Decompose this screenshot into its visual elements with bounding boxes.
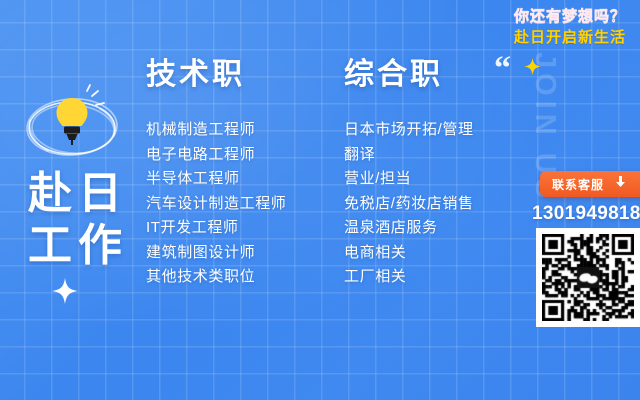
contact-service-button[interactable]: 联系客服 [540,171,640,197]
job-list-tech: 机械制造工程师 电子电路工程师 半导体工程师 汽车设计制造工程师 IT开发工程师… [146,118,286,290]
phone-number: 13019498186 [532,203,640,225]
list-item: 温泉酒店服务 [344,216,474,241]
hand-drawn-circle-icon [18,82,126,168]
list-item: 电子电路工程师 [146,143,286,168]
poster-canvas: JOIN US [0,0,640,400]
title-line-2: 工作 [22,220,134,272]
slogan-block: 你还有梦想吗？ 赴日开启新生活 [514,6,626,48]
list-item: 电商相关 [344,241,474,266]
list-item: 翻译 [344,143,474,168]
list-item: 营业/担当 [344,167,474,192]
slogan-line-2: 赴日开启新生活 [514,27,626,48]
arrow-down-icon [614,175,627,193]
list-item: IT开发工程师 [146,216,286,241]
column-heading-tech: 技术职 [146,58,286,92]
list-item: 工厂相关 [344,265,474,290]
list-item: 建筑制图设计师 [146,241,286,266]
column-heading-general: 综合职 [344,58,474,92]
lightbulb-icon [57,85,105,145]
column-tech: 技术职 机械制造工程师 电子电路工程师 半导体工程师 汽车设计制造工程师 IT开… [146,58,286,290]
qr-code-icon[interactable] [536,228,640,327]
job-list-general: 日本市场开拓/管理 翻译 营业/担当 免税店/药妆店销售 温泉酒店服务 电商相关… [344,118,474,290]
list-item: 半导体工程师 [146,167,286,192]
sparkle-star-icon-yellow [524,58,541,75]
list-item: 免税店/药妆店销售 [344,192,474,217]
list-item: 机械制造工程师 [146,118,286,143]
slogan-line-1: 你还有梦想吗？ [514,6,626,27]
list-item: 汽车设计制造工程师 [146,192,286,217]
list-item: 日本市场开拓/管理 [344,118,474,143]
contact-service-label: 联系客服 [552,176,604,193]
sparkle-star-icon [52,278,78,304]
column-general: 综合职 日本市场开拓/管理 翻译 营业/担当 免税店/药妆店销售 温泉酒店服务 … [344,58,474,290]
title-line-1: 赴日 [22,168,134,220]
page-title: 赴日 工作 [22,168,134,272]
list-item: 其他技术类职位 [146,265,286,290]
quote-mark-icon: “ [494,52,511,86]
lightbulb-badge [18,82,126,168]
